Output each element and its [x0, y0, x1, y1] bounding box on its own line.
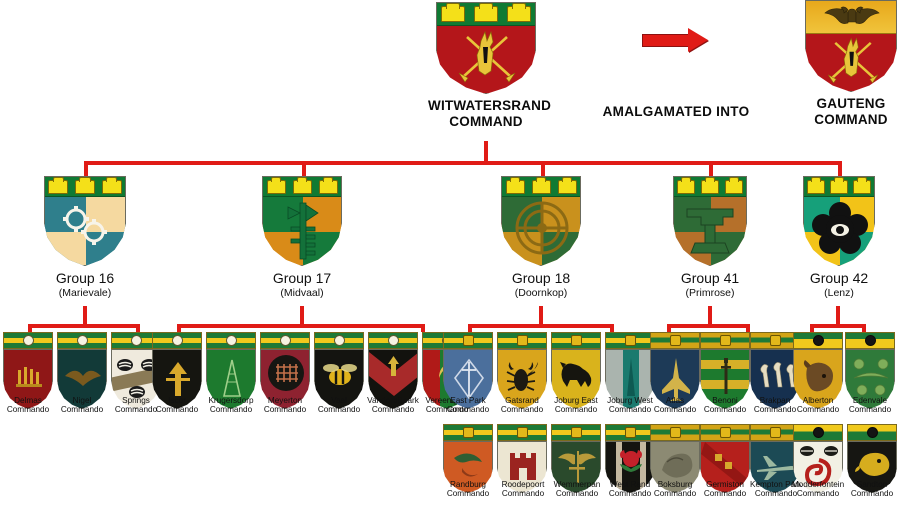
springbok-and-swords-emblem	[820, 34, 886, 89]
group-41-node[interactable]: Group 41 (Primrose)	[673, 176, 747, 266]
airliner-icon	[755, 452, 797, 482]
group-42-node[interactable]: Group 42 (Lenz)	[803, 176, 875, 266]
commando-sub: Commando	[841, 489, 900, 498]
commando-name: Edenvale	[839, 396, 900, 405]
castle-tower-icon	[508, 448, 538, 484]
witwatersrand-command-shield	[436, 2, 536, 94]
group-name: Group 18	[486, 270, 596, 287]
arrow-head	[688, 28, 708, 52]
unit-emblem-icon	[77, 335, 88, 346]
crest-band	[45, 177, 125, 197]
crest-band	[263, 177, 341, 197]
commando-header-bar	[551, 332, 601, 349]
commando-header-bar	[497, 424, 547, 441]
unit-emblem-icon	[23, 335, 34, 346]
connector-g42-c1	[810, 324, 814, 332]
group-place: (Primrose)	[655, 287, 765, 300]
connector-g41-c1	[667, 324, 671, 332]
group-16-shield	[44, 176, 126, 266]
castle-icon	[725, 180, 743, 194]
connector-groups-bus	[84, 161, 842, 165]
unit-emblem-icon	[517, 427, 528, 438]
group-18-node[interactable]: Group 18 (Doornkop)	[501, 176, 581, 266]
connector-g18-c4	[610, 324, 614, 332]
title-line-1: GAUTENG	[797, 96, 900, 112]
castle-icon	[293, 180, 312, 194]
springbok-and-swords-emblem	[451, 27, 523, 89]
connector-g16-bus	[28, 324, 140, 328]
group-name: Group 41	[655, 270, 765, 287]
commando-sub: Commando	[839, 405, 900, 414]
gauteng-command-shield	[805, 0, 897, 92]
group-41-shield	[673, 176, 747, 266]
unit-emblem-icon	[226, 335, 237, 346]
unit-emblem-icon	[463, 335, 474, 346]
anvil-emblem	[683, 203, 739, 257]
title-line-2: COMMAND	[428, 114, 544, 130]
connector-group41-drop	[709, 161, 713, 176]
castle-icon	[701, 180, 719, 194]
connector-group42-drop	[838, 161, 842, 176]
castle-icon	[441, 6, 465, 22]
double-headed-eagle-icon	[824, 4, 880, 30]
group-place: (Midvaal)	[247, 287, 357, 300]
commando-sandton-label: Sandton Commando	[841, 480, 900, 499]
commando-meyerton-label: Meyerton Commando	[254, 396, 316, 415]
title-line-1: WITWATERSRAND	[428, 98, 544, 114]
castle-icon	[677, 180, 695, 194]
unit-emblem-icon	[280, 335, 291, 346]
group-42-shield	[803, 176, 875, 266]
gauteng-command-title: GAUTENG COMMAND	[797, 96, 900, 128]
connector-group16-drop	[84, 161, 88, 176]
castle-icon	[853, 180, 871, 194]
commando-header-bar	[605, 424, 655, 441]
connector-g18-bus	[468, 324, 614, 328]
castle-icon	[507, 6, 531, 22]
crest-band	[502, 177, 580, 197]
key-and-arrow-emblem	[285, 199, 321, 263]
commando-header-bar	[847, 424, 897, 441]
castle-icon	[830, 180, 848, 194]
commando-header-bar	[845, 332, 895, 349]
commando-header-bar	[793, 424, 843, 441]
connector-g42-stem	[836, 306, 840, 326]
flamingos-icon	[755, 358, 797, 396]
connector-g18-c1	[468, 324, 472, 332]
witwatersrand-command-title: WITWATERSRAND COMMAND	[428, 98, 544, 130]
connector-g17-bus	[177, 324, 425, 328]
group-17-node[interactable]: Group 17 (Midvaal)	[262, 176, 342, 266]
commando-header-bar	[700, 424, 750, 441]
castle-icon	[532, 180, 551, 194]
unit-emblem-icon	[463, 427, 474, 438]
connector-group17-drop	[302, 161, 306, 176]
connector-g17-c6	[421, 324, 425, 332]
group-17-label: Group 17 (Midvaal)	[247, 270, 357, 299]
obelisk-icon	[623, 356, 639, 400]
connector-group18-drop	[541, 161, 545, 176]
group-17-shield	[262, 176, 342, 266]
unit-emblem-icon	[865, 335, 876, 346]
unit-emblem-icon	[813, 335, 824, 346]
unit-emblem-icon	[131, 335, 142, 346]
commando-name: Nigel	[51, 396, 113, 405]
unit-emblem-icon	[517, 335, 528, 346]
commando-edenvale-label: Edenvale Commando	[839, 396, 900, 415]
commando-header-bar	[152, 332, 202, 349]
group-16-node[interactable]: Group 16 (Marievale)	[44, 176, 126, 266]
group-name: Group 16	[30, 270, 140, 287]
castle-icon	[75, 180, 95, 194]
connector-g17-c1	[177, 324, 181, 332]
crest-band	[674, 177, 746, 197]
castle-icon	[48, 180, 68, 194]
scorpion-icon	[504, 358, 542, 398]
castle-icon	[319, 180, 338, 194]
commando-header-bar	[368, 332, 418, 349]
commando-east-park-label: East Park Commando	[437, 396, 499, 415]
group-place: (Doornkop)	[486, 287, 596, 300]
commando-name: Sandton	[841, 480, 900, 489]
witwatersrand-command-node[interactable]: WITWATERSRAND COMMAND	[428, 2, 544, 130]
crest-band	[804, 177, 874, 197]
commando-name: East Park	[437, 396, 499, 405]
commando-header-bar	[260, 332, 310, 349]
commando-header-bar	[314, 332, 364, 349]
unit-emblem-icon	[867, 427, 878, 438]
group-42-label: Group 42 (Lenz)	[784, 270, 894, 299]
tree-icon	[162, 360, 194, 400]
commando-header-bar	[3, 332, 53, 349]
unit-emblem-icon	[720, 335, 731, 346]
commando-sub: Commando	[437, 405, 499, 414]
mine-headgear-icon	[14, 364, 44, 390]
connector-g16-stem	[83, 306, 87, 326]
wildebeest-head-icon	[799, 358, 839, 398]
commando-header-bar	[605, 332, 655, 349]
connector-g42-c2	[862, 324, 866, 332]
portcullis-icon	[274, 362, 298, 384]
title-line-2: COMMAND	[797, 112, 900, 128]
commando-header-bar	[497, 332, 547, 349]
commando-header-bar	[793, 332, 843, 349]
unit-emblem-icon	[770, 427, 781, 438]
group-18-shield	[501, 176, 581, 266]
flower-emblem	[812, 201, 868, 255]
arrow-stem	[642, 34, 690, 47]
group-place: (Lenz)	[784, 287, 894, 300]
commando-nigel-label: Nigel Commando	[51, 396, 113, 415]
commando-header-bar	[650, 332, 700, 349]
connector-g18-stem	[539, 306, 543, 326]
unit-emblem-icon	[571, 335, 582, 346]
org-chart-canvas: WITWATERSRAND COMMAND AMALGAMATED INTO	[0, 0, 900, 509]
crest-band	[437, 3, 535, 26]
commando-sub: Commando	[51, 405, 113, 414]
eagle-icon	[63, 364, 103, 390]
group-place: (Marievale)	[30, 287, 140, 300]
warthog-icon	[853, 448, 893, 484]
castle-icon	[267, 180, 286, 194]
castle-icon	[102, 180, 122, 194]
commando-sub: Commando	[254, 405, 316, 414]
group-name: Group 42	[784, 270, 894, 287]
amalgamation-arrow-icon	[642, 28, 712, 54]
unit-emblem-icon	[334, 335, 345, 346]
unit-emblem-icon	[172, 335, 183, 346]
headframe-icon	[220, 358, 244, 400]
commando-header-bar	[206, 332, 256, 349]
unit-emblem-icon	[670, 335, 681, 346]
unit-emblem-icon	[571, 427, 582, 438]
connector-g41-bus	[667, 324, 750, 328]
amalgamated-into-label: AMALGAMATED INTO	[596, 104, 756, 119]
unit-emblem-icon	[625, 335, 636, 346]
unit-emblem-icon	[625, 427, 636, 438]
commando-header-bar	[443, 424, 493, 441]
protea-flower-icon	[617, 448, 645, 484]
commando-name: Meyerton	[254, 396, 316, 405]
commando-header-bar	[650, 424, 700, 441]
castle-icon	[807, 180, 825, 194]
unit-emblem-icon	[720, 427, 731, 438]
unit-emblem-icon	[813, 427, 824, 438]
commando-header-bar	[57, 332, 107, 349]
group-name: Group 17	[247, 270, 357, 287]
horse-icon	[557, 360, 597, 396]
bee-icon	[322, 362, 358, 388]
connector-g16-c3	[136, 324, 140, 332]
commando-header-bar	[551, 424, 601, 441]
connector-g17-stem	[300, 306, 304, 326]
gears-emblem	[57, 201, 115, 251]
unit-emblem-icon	[670, 427, 681, 438]
connector-g41-stem	[708, 306, 712, 326]
commando-header-bar	[443, 332, 493, 349]
gauteng-command-node[interactable]: GAUTENG COMMAND	[797, 0, 900, 128]
castle-icon	[506, 180, 525, 194]
castle-icon	[474, 6, 498, 22]
bird-and-scroll-icon	[450, 448, 488, 484]
connector-g42-bus	[810, 324, 866, 328]
wagon-wheel-emblem	[510, 201, 574, 259]
group-16-label: Group 16 (Marievale)	[30, 270, 140, 299]
connector-g41-c3	[746, 324, 750, 332]
unit-emblem-icon	[770, 335, 781, 346]
castle-icon	[558, 180, 577, 194]
group-18-label: Group 18 (Doornkop)	[486, 270, 596, 299]
unit-emblem-icon	[388, 335, 399, 346]
group-41-label: Group 41 (Primrose)	[655, 270, 765, 299]
connector-g16-c1	[28, 324, 32, 332]
commando-header-bar	[700, 332, 750, 349]
